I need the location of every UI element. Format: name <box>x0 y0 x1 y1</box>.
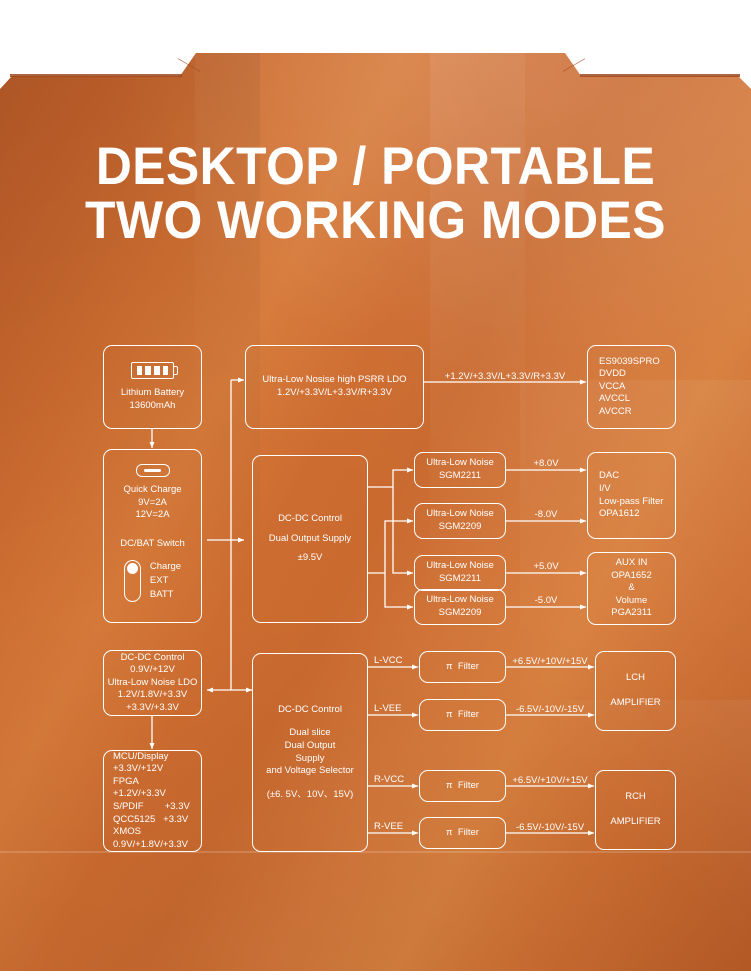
block-sgm2209-negative-5v[interactable]: Ultra-Low Noise SGM2209 <box>414 589 506 625</box>
lch-line-1: LCH <box>626 672 645 685</box>
toggle-switch-icon[interactable] <box>124 560 141 602</box>
wire-label-rvee-out: -6.5V/-10V/-15V <box>516 822 584 833</box>
dcdc-dual-line-2: Dual Output Supply <box>269 533 351 546</box>
switch-option-charge[interactable]: Charge <box>150 562 181 572</box>
dac-line-2: I/V <box>599 483 611 496</box>
filter-lvee-label: π Filter <box>446 709 479 722</box>
dc-bat-switch-title: DC/BAT Switch <box>120 538 185 551</box>
power-block-diagram: Lithium Battery 13600mAh Ultra-Low Nosis… <box>0 0 751 971</box>
block-mcu-display-fpga[interactable]: MCU/Display +3.3V/+12V FPGA +1.2V/+3.3V … <box>103 750 202 852</box>
dcdc-ldo-line-5: +3.3V/+3.3V <box>126 702 179 715</box>
block-pi-filter-lvee[interactable]: π Filter <box>419 699 506 731</box>
es9039-line-5: AVCCR <box>599 406 632 419</box>
switch-option-ext[interactable]: EXT <box>150 576 181 586</box>
block-dcdc-voltage-selector[interactable]: DC-DC Control Dual slice Dual Output Sup… <box>252 653 368 852</box>
sgm-d-line-1: Ultra-Low Noise <box>426 594 494 607</box>
wire-label-minus-8v: -8.0V <box>535 509 558 520</box>
sgm-b-line-1: Ultra-Low Noise <box>426 508 494 521</box>
dcdc-dual-line-1: DC-DC Control <box>278 513 342 526</box>
es9039-line-3: VCCA <box>599 381 625 394</box>
lch-line-2: AMPLIFIER <box>610 697 660 710</box>
block-dcdc-dual-output-supply[interactable]: DC-DC Control Dual Output Supply ±9.5V <box>252 455 368 623</box>
filter-rvee-label: π Filter <box>446 827 479 840</box>
sgm-d-line-2: SGM2209 <box>439 607 482 620</box>
filter-lvcc-label: π Filter <box>446 661 479 674</box>
sgm-a-line-2: SGM2211 <box>439 470 481 483</box>
sgm-c-line-1: Ultra-Low Noise <box>426 560 494 573</box>
rch-line-1: RCH <box>625 791 646 804</box>
wire-label-plus-5v: +5.0V <box>533 561 558 572</box>
battery-line-1: Lithium Battery <box>121 387 184 400</box>
block-quick-charge-switch[interactable]: Quick Charge 9V=2A 12V=2A DC/BAT Switch … <box>103 449 202 623</box>
aux-line-5: PGA2311 <box>611 607 652 620</box>
block-pi-filter-rvee[interactable]: π Filter <box>419 817 506 849</box>
selector-line-5: and Voltage Selector <box>266 765 354 778</box>
wire-label-l-vcc: L-VCC <box>374 655 403 666</box>
block-lch-amplifier[interactable]: LCH AMPLIFIER <box>595 651 676 731</box>
battery-line-2: 13600mAh <box>130 400 176 413</box>
sgm-c-line-2: SGM2211 <box>439 573 481 586</box>
dac-line-4: OPA1612 <box>599 508 640 521</box>
block-es9039spro[interactable]: ES9039SPRO DVDD VCCA AVCCL AVCCR <box>587 345 676 429</box>
aux-line-4: Volume <box>616 595 648 608</box>
dcdc-ldo-line-3: Ultra-Low Noise LDO <box>108 677 198 690</box>
dcdc-ldo-line-2: 0.9V/+12V <box>130 664 175 677</box>
mcu-line-4: +1.2V/+3.3V <box>113 788 166 801</box>
block-sgm2211-positive-5v[interactable]: Ultra-Low Noise SGM2211 <box>414 555 506 591</box>
block-lithium-battery[interactable]: Lithium Battery 13600mAh <box>103 345 202 429</box>
rch-line-2: AMPLIFIER <box>610 816 660 829</box>
mcu-line-6: QCC5125 +3.3V <box>113 814 188 827</box>
mcu-line-8: 0.9V/+1.8V/+3.3V <box>113 839 188 852</box>
wire-label-minus-5v: -5.0V <box>535 595 558 606</box>
battery-icon <box>131 362 174 379</box>
wire-label-plus-8v: +8.0V <box>533 458 558 469</box>
wire-label-lvcc-out: +6.5V/+10V/+15V <box>512 656 587 667</box>
aux-line-2: OPA1652 <box>611 570 652 583</box>
wire-label-r-vcc: R-VCC <box>374 774 404 785</box>
usb-c-icon <box>136 464 170 477</box>
wire-label-rvcc-out: +6.5V/+10V/+15V <box>512 775 587 786</box>
block-sgm2209-negative-8v[interactable]: Ultra-Low Noise SGM2209 <box>414 503 506 539</box>
mcu-line-7: XMOS <box>113 826 141 839</box>
wire-label-lvee-out: -6.5V/-10V/-15V <box>516 704 584 715</box>
mcu-line-3: FPGA <box>113 776 139 789</box>
charge-line-2: 9V=2A <box>138 497 167 510</box>
block-pi-filter-lvcc[interactable]: π Filter <box>419 651 506 683</box>
aux-line-3: & <box>628 582 634 595</box>
selector-line-6: (±6. 5V、10V、15V) <box>267 789 354 802</box>
switch-option-batt[interactable]: BATT <box>150 590 181 600</box>
dcdc-ldo-line-1: DC-DC Control <box>121 652 185 665</box>
dcdc-dual-line-3: ±9.5V <box>298 552 323 565</box>
dac-line-3: Low-pass Filter <box>599 496 663 509</box>
block-rch-amplifier[interactable]: RCH AMPLIFIER <box>595 770 676 850</box>
selector-line-4: Supply <box>295 753 324 766</box>
ldo-line-2: 1.2V/+3.3V/L+3.3V/R+3.3V <box>277 387 392 400</box>
wire-label-l-vee: L-VEE <box>374 703 401 714</box>
es9039-line-1: ES9039SPRO <box>599 356 660 369</box>
wire-label-ldo-output: +1.2V/+3.3V/L+3.3V/R+3.3V <box>445 371 565 382</box>
es9039-line-4: AVCCL <box>599 393 630 406</box>
block-ultra-low-noise-psrr-ldo[interactable]: Ultra-Low Nosise high PSRR LDO 1.2V/+3.3… <box>245 345 424 429</box>
ldo-line-1: Ultra-Low Nosise high PSRR LDO <box>262 374 406 387</box>
block-pi-filter-rvcc[interactable]: π Filter <box>419 770 506 802</box>
dac-line-1: DAC <box>599 470 619 483</box>
mcu-line-2: +3.3V/+12V <box>113 763 163 776</box>
wire-label-r-vee: R-VEE <box>374 821 403 832</box>
sgm-b-line-2: SGM2209 <box>439 521 482 534</box>
block-sgm2211-positive-8v[interactable]: Ultra-Low Noise SGM2211 <box>414 452 506 488</box>
dcdc-ldo-line-4: 1.2V/1.8V/+3.3V <box>118 689 187 702</box>
selector-line-2: Dual slice <box>289 727 330 740</box>
filter-rvcc-label: π Filter <box>446 780 479 793</box>
charge-line-1: Quick Charge <box>123 484 181 497</box>
sgm-a-line-1: Ultra-Low Noise <box>426 457 494 470</box>
selector-line-3: Dual Output <box>285 740 336 753</box>
aux-line-1: AUX IN <box>616 557 648 570</box>
block-aux-in-volume[interactable]: AUX IN OPA1652 & Volume PGA2311 <box>587 552 676 625</box>
mcu-line-1: MCU/Display <box>113 751 168 764</box>
block-dac-iv-lowpass[interactable]: DAC I/V Low-pass Filter OPA1612 <box>587 452 676 539</box>
mcu-line-5: S/PDIF +3.3V <box>113 801 190 814</box>
dc-bat-switch-control[interactable]: Charge EXT BATT <box>124 560 181 602</box>
block-dcdc-control-ldo[interactable]: DC-DC Control 0.9V/+12V Ultra-Low Noise … <box>103 650 202 716</box>
charge-line-3: 12V=2A <box>135 509 169 522</box>
selector-line-1: DC-DC Control <box>278 704 342 717</box>
es9039-line-2: DVDD <box>599 368 626 381</box>
